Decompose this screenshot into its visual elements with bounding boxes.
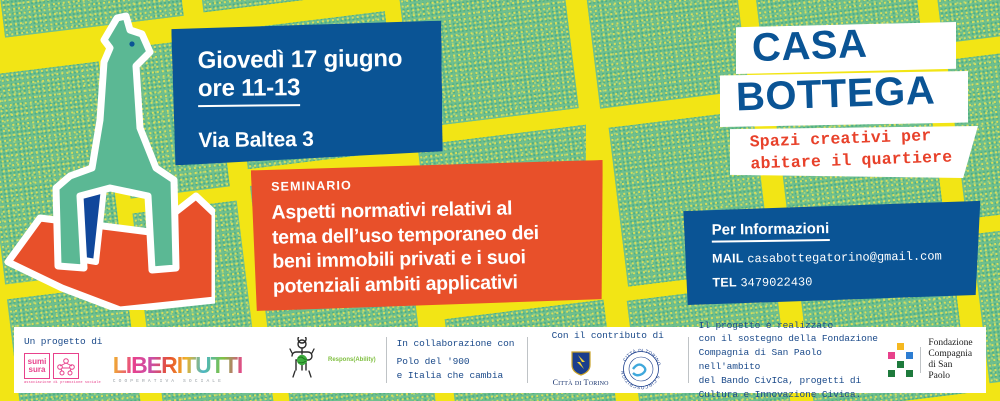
sumisura-logo: sumi sura (24, 353, 101, 379)
support-line-5: Cultura e Innovazione Civica. (699, 388, 889, 401)
citta-di-torino-logo: Città di Torino (553, 350, 609, 387)
event-time: ore 11-13 (198, 74, 301, 107)
liberitutti-wordmark: LIBERITUTTI (113, 354, 243, 377)
torino-crest-icon (569, 350, 593, 376)
contact-mail-label: MAIL (712, 251, 744, 265)
contrib-label: Con il contributo di (538, 330, 678, 341)
san-paolo-line-3: di San Paolo (928, 360, 976, 382)
event-date-box: Giovedì 17 giugno ore 11-13 Via Baltea 3 (171, 21, 442, 166)
circoscrizione-seal-icon: CITTÀ DI TORINO 5 CIRCOSCRIZIONE (619, 347, 663, 391)
footer-sponsor-bar: Un progetto di sumi sura (14, 327, 986, 393)
footer-collaboration: In collaborazione con Polo del '900 e It… (387, 334, 527, 386)
contact-tel-row: TEL 3479022430 (712, 272, 981, 291)
sumisura-caption: associazione di promozione sociale (24, 381, 101, 385)
contact-info-box: Per Informazioni MAIL casabottegatorino@… (683, 201, 981, 305)
support-line-2: con il sostegno della Fondazione (699, 332, 889, 346)
compagnia-san-paolo-logo: Fondazione Compagnia di San Paolo (888, 338, 976, 383)
seminar-title-line-4: potenziali ambiti applicativi (273, 269, 605, 299)
contact-tel-label: TEL (712, 275, 737, 289)
support-line-4: del Bando CivICa, progetti di (699, 374, 889, 388)
san-paolo-logo-divider (920, 347, 921, 373)
sumisura-word-bottom: sura (28, 366, 47, 374)
sumisura-wordmark-box: sumi sura (24, 353, 50, 379)
support-line-3: Compagnia di San Paolo nell'ambito (699, 346, 889, 374)
project-by-label: Un progetto di (24, 336, 242, 347)
contact-tel-value[interactable]: 3479022430 (740, 275, 812, 290)
casa-bottega-logo: CASA BOTTEGA Spazi creativi per abitare … (716, 22, 982, 172)
liberitutti-subtitle: COOPERATIVA SOCIALE (113, 379, 243, 384)
event-address: Via Baltea 3 (198, 126, 442, 153)
logo-word-casa: CASA (751, 24, 868, 68)
sumisura-figure-box (53, 353, 79, 379)
promotional-banner: Giovedì 17 giugno ore 11-13 Via Baltea 3… (0, 0, 1000, 401)
collab-line-2: e Italia che cambia (397, 369, 515, 383)
circoscrizione-5-logo: CITTÀ DI TORINO 5 CIRCOSCRIZIONE (619, 347, 663, 391)
san-paolo-dot-grid-icon (888, 343, 913, 377)
contact-mail-value[interactable]: casabottegatorino@gmail.com (747, 249, 942, 266)
collab-line-1: Polo del '900 (397, 355, 515, 369)
contact-mail-row: MAIL casabottegatorino@gmail.com (712, 248, 981, 267)
footer-support-text: Il progetto è realizzato con il sostegno… (689, 334, 986, 386)
torino-name: Città di Torino (553, 378, 609, 387)
contact-heading: Per Informazioni (712, 220, 830, 243)
footer-contribution: Con il contributo di Città di Torino (528, 334, 688, 386)
event-date: Giovedì 17 giugno (198, 45, 442, 75)
logo-word-bottega: BOTTEGA (735, 71, 935, 118)
footer-project-by: Un progetto di sumi sura (14, 334, 268, 386)
respons-ability-label: Respons(Ability) (328, 357, 376, 363)
seminar-kicker: SEMINARIO (271, 174, 603, 194)
collab-label: In collaborazione con (397, 338, 515, 349)
san-paolo-line-2: Compagnia (928, 349, 976, 360)
san-paolo-line-1: Fondazione (928, 338, 976, 349)
seminar-box: SEMINARIO Aspetti normativi relativi al … (251, 160, 605, 311)
sumisura-network-icon (56, 356, 76, 376)
footer-respons-logo: Respons(Ability) (268, 334, 386, 386)
logo-tagline: Spazi creativi per abitare il quartiere (749, 124, 952, 175)
respons-ability-figure-icon (278, 337, 326, 383)
support-line-1: Il progetto è realizzato (699, 319, 889, 333)
